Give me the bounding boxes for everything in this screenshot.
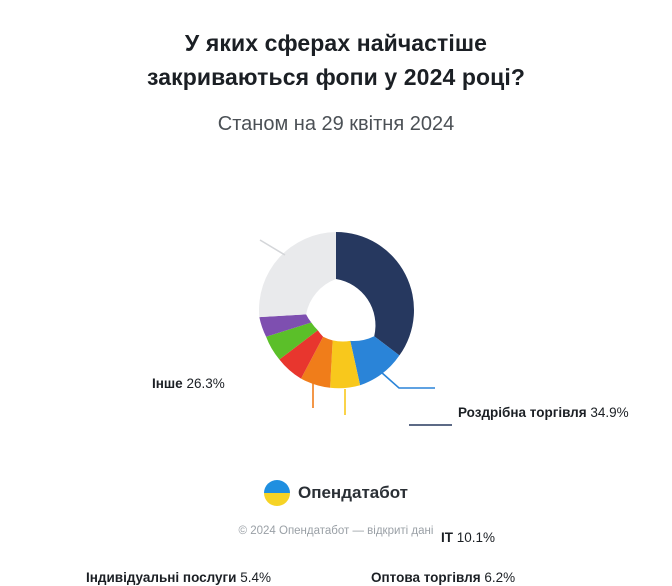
infographic-page: У яких сферах найчастіше закриваються фо… xyxy=(0,0,672,560)
donut-slices-accurate xyxy=(259,232,414,388)
label-other: Інше 26.3% xyxy=(152,376,225,392)
label-wholesale: Оптова торгівля 6.2% xyxy=(371,570,515,586)
brand-name: Опендатабот xyxy=(298,483,408,503)
label-individual-value: 5.4% xyxy=(240,570,271,585)
callout-line-it xyxy=(381,372,435,388)
label-retail-name: Роздрібна торгівля xyxy=(458,405,587,420)
label-retail-value: 34.9% xyxy=(590,405,628,420)
page-title-line1: У яких сферах найчастіше xyxy=(0,26,672,60)
donut-chart: Роздрібна торгівля 34.9% IT 10.1% Оптова… xyxy=(0,160,672,450)
callout-line-other xyxy=(260,240,285,255)
label-other-value: 26.3% xyxy=(186,376,224,391)
label-individual-name: Індивідуальні послуги xyxy=(86,570,236,585)
label-individual: Індивідуальні послуги 5.4% xyxy=(86,570,271,586)
label-wholesale-value: 6.2% xyxy=(484,570,515,585)
opendatabot-logo-icon xyxy=(264,480,290,506)
label-retail: Роздрібна торгівля 34.9% xyxy=(458,405,629,421)
page-title: У яких сферах найчастіше закриваються фо… xyxy=(0,26,672,94)
label-other-name: Інше xyxy=(152,376,183,391)
page-title-line2: закриваються фопи у 2024 році? xyxy=(0,60,672,94)
brand-logo: Опендатабот xyxy=(0,480,672,506)
page-subtitle: Станом на 29 квітня 2024 xyxy=(0,113,672,136)
copyright-text: © 2024 Опендатабот — відкриті дані xyxy=(0,525,672,537)
slice-other xyxy=(259,232,336,317)
label-wholesale-name: Оптова торгівля xyxy=(371,570,481,585)
